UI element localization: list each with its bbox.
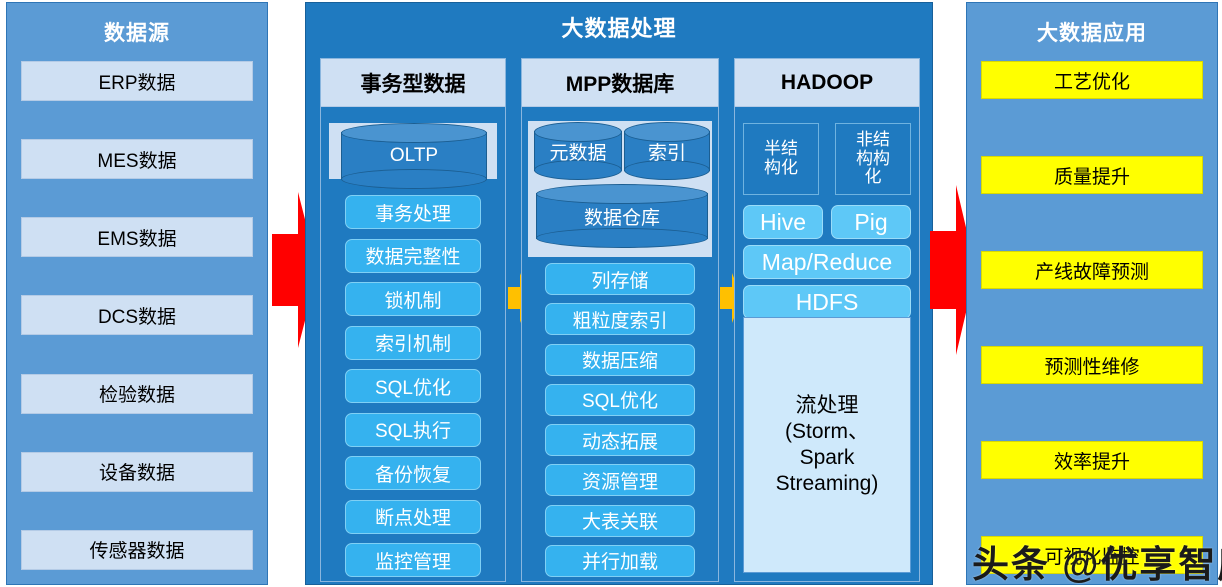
data-source-panel: 数据源 ERP数据 MES数据 EMS数据 DCS数据 检验数据 设备数据 传感…: [6, 2, 268, 585]
mpp-item-parallel-loading[interactable]: 并行加载: [545, 545, 695, 577]
hadoop-stack: Hive Pig Map/Reduce HDFS: [743, 205, 911, 307]
mpp-database-column: MPP数据库 元数据 索引 数据仓库 列存储 粗粒度索引 数据压缩 SQL优化: [521, 58, 719, 582]
data-source-item-ems[interactable]: EMS数据: [21, 217, 253, 257]
transactional-item-sql-execution[interactable]: SQL执行: [345, 413, 481, 447]
transactional-data-body: OLTP 事务处理 数据完整性 锁机制 索引机制 SQL优化 SQL执行 备份恢…: [321, 107, 505, 581]
hadoop-item-hive[interactable]: Hive: [743, 205, 823, 239]
index-cylinder: 索引: [624, 131, 710, 171]
application-item-line-failure-prediction[interactable]: 产线故障预测: [981, 251, 1203, 289]
big-data-application-list: 工艺优化 质量提升 产线故障预测 预测性维修 效率提升 可视化监控: [981, 61, 1203, 576]
semi-structured-box[interactable]: 半结构化: [743, 123, 819, 195]
data-source-list: ERP数据 MES数据 EMS数据 DCS数据 检验数据 设备数据 传感器数据: [21, 61, 253, 576]
metadata-cylinder-label: 元数据: [549, 138, 606, 165]
stream-processing-box[interactable]: 流处理 (Storm、 Spark Streaming): [743, 317, 911, 573]
mpp-database-title: MPP数据库: [522, 59, 718, 107]
transactional-item-monitoring-management[interactable]: 监控管理: [345, 543, 481, 577]
metadata-cylinder: 元数据: [534, 131, 622, 171]
data-warehouse-cylinder: 数据仓库: [536, 193, 708, 239]
data-source-item-mes[interactable]: MES数据: [21, 139, 253, 179]
big-data-application-title: 大数据应用: [981, 17, 1203, 47]
big-data-application-panel: 大数据应用 工艺优化 质量提升 产线故障预测 预测性维修 效率提升 可视化监控: [966, 2, 1218, 585]
big-data-processing-panel: 大数据处理 事务型数据 OLTP 事务处理 数据完整性 锁机制 索引机制 SQL…: [305, 2, 933, 585]
unstructured-box[interactable]: 非结构构化: [835, 123, 911, 195]
transactional-item-backup-recovery[interactable]: 备份恢复: [345, 456, 481, 490]
oltp-cylinder: OLTP: [341, 132, 487, 180]
data-source-item-sensor[interactable]: 传感器数据: [21, 530, 253, 570]
mpp-item-sql-optimization[interactable]: SQL优化: [545, 384, 695, 416]
mpp-item-large-table-join[interactable]: 大表关联: [545, 505, 695, 537]
oltp-cylinder-label: OLTP: [390, 145, 438, 167]
mpp-items-list: 列存储 粗粒度索引 数据压缩 SQL优化 动态拓展 资源管理 大表关联 并行加载: [528, 263, 712, 577]
hadoop-title: HADOOP: [735, 59, 919, 107]
mpp-item-data-compression[interactable]: 数据压缩: [545, 344, 695, 376]
transactional-item-index-mechanism[interactable]: 索引机制: [345, 326, 481, 360]
transactional-data-column: 事务型数据 OLTP 事务处理 数据完整性 锁机制 索引机制 SQL优化 SQL…: [320, 58, 506, 582]
hadoop-item-map-reduce[interactable]: Map/Reduce: [743, 245, 911, 279]
transactional-item-lock-mechanism[interactable]: 锁机制: [345, 282, 481, 316]
data-source-item-inspection[interactable]: 检验数据: [21, 374, 253, 414]
hadoop-item-hdfs[interactable]: HDFS: [743, 285, 911, 319]
transactional-items-list: 事务处理 数据完整性 锁机制 索引机制 SQL优化 SQL执行 备份恢复 断点处…: [327, 195, 499, 577]
data-source-item-equipment[interactable]: 设备数据: [21, 452, 253, 492]
diagram-canvas: 数据源 ERP数据 MES数据 EMS数据 DCS数据 检验数据 设备数据 传感…: [0, 0, 1222, 587]
transactional-item-sql-optimization[interactable]: SQL优化: [345, 369, 481, 403]
transactional-item-data-integrity[interactable]: 数据完整性: [345, 239, 481, 273]
transactional-data-title: 事务型数据: [321, 59, 505, 107]
hadoop-column: HADOOP 半结构化 非结构构化 Hive Pig Map/Reduce HD…: [734, 58, 920, 582]
hadoop-item-pig[interactable]: Pig: [831, 205, 911, 239]
transactional-item-transaction-processing[interactable]: 事务处理: [345, 195, 481, 229]
data-source-item-dcs[interactable]: DCS数据: [21, 295, 253, 335]
data-source-title: 数据源: [21, 17, 253, 47]
application-item-process-optimization[interactable]: 工艺优化: [981, 61, 1203, 99]
data-warehouse-cylinder-label: 数据仓库: [584, 203, 660, 230]
mpp-item-resource-management[interactable]: 资源管理: [545, 464, 695, 496]
application-item-quality-improvement[interactable]: 质量提升: [981, 156, 1203, 194]
watermark-text: 头条 @优享智库: [972, 534, 1222, 587]
hadoop-body: 半结构化 非结构构化 Hive Pig Map/Reduce HDFS 流处理 …: [735, 107, 919, 581]
hadoop-data-type-boxes: 半结构化 非结构构化: [743, 121, 911, 197]
index-cylinder-label: 索引: [648, 138, 686, 165]
transactional-item-breakpoint-handling[interactable]: 断点处理: [345, 500, 481, 534]
mpp-database-body: 元数据 索引 数据仓库 列存储 粗粒度索引 数据压缩 SQL优化 动态拓展 资源…: [522, 107, 718, 581]
mpp-item-dynamic-expansion[interactable]: 动态拓展: [545, 424, 695, 456]
mpp-item-columnar-storage[interactable]: 列存储: [545, 263, 695, 295]
mpp-item-coarse-grained-index[interactable]: 粗粒度索引: [545, 303, 695, 335]
big-data-processing-title: 大数据处理: [306, 11, 932, 43]
application-item-predictive-maintenance[interactable]: 预测性维修: [981, 346, 1203, 384]
application-item-efficiency-improvement[interactable]: 效率提升: [981, 441, 1203, 479]
data-source-item-erp[interactable]: ERP数据: [21, 61, 253, 101]
